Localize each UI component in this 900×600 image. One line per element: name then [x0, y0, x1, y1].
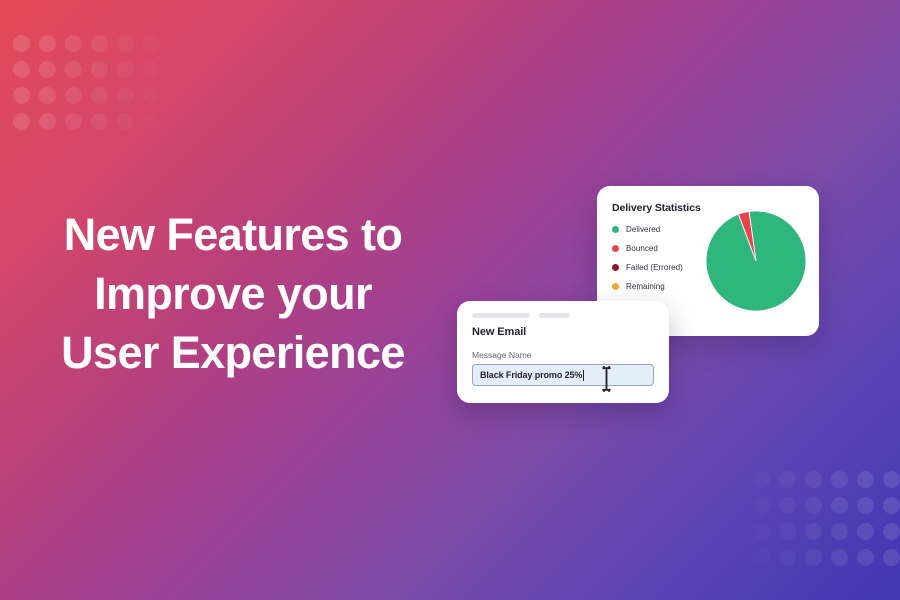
text-caret	[583, 370, 584, 381]
headline-line-3: User Experience	[18, 323, 448, 382]
dot	[60, 56, 86, 82]
dot	[112, 82, 138, 108]
legend-item-remaining: Remaining	[612, 277, 683, 295]
dot	[8, 30, 34, 56]
dot	[826, 466, 852, 492]
dot	[112, 30, 138, 56]
dot	[800, 518, 826, 544]
dot	[138, 56, 164, 82]
dot	[826, 518, 852, 544]
dot	[8, 108, 34, 134]
message-name-input[interactable]: Black Friday promo 25%	[472, 364, 654, 386]
pie-chart-svg	[705, 210, 807, 312]
dot	[86, 108, 112, 134]
decorative-dot-grid-top-left	[8, 30, 164, 134]
dot	[86, 30, 112, 56]
promo-banner: New Features to Improve your User Experi…	[0, 0, 900, 600]
legend-label-bounced: Bounced	[626, 244, 658, 253]
dot	[852, 518, 878, 544]
dot	[800, 492, 826, 518]
email-card-title: New Email	[472, 326, 526, 338]
dot	[112, 108, 138, 134]
dot	[60, 108, 86, 134]
dot	[852, 466, 878, 492]
dot	[826, 544, 852, 570]
headline-line-1: New Features to	[18, 205, 448, 264]
legend-item-bounced: Bounced	[612, 239, 683, 257]
dot	[138, 30, 164, 56]
dot	[34, 108, 60, 134]
dot	[774, 518, 800, 544]
placeholder-bar-narrow	[539, 313, 570, 318]
dot	[878, 466, 900, 492]
legend-label-remaining: Remaining	[626, 282, 665, 291]
legend-swatch-delivered	[612, 226, 619, 233]
dot	[138, 82, 164, 108]
dot	[852, 492, 878, 518]
headline-line-2: Improve your	[18, 264, 448, 323]
dot	[60, 30, 86, 56]
legend-label-failed: Failed (Errored)	[626, 263, 683, 272]
dot	[86, 82, 112, 108]
dot	[86, 56, 112, 82]
delivery-pie-chart	[705, 210, 807, 312]
dot	[748, 518, 774, 544]
legend-swatch-bounced	[612, 245, 619, 252]
dot	[878, 518, 900, 544]
dot	[852, 544, 878, 570]
dot	[748, 492, 774, 518]
dot	[774, 544, 800, 570]
card-header-placeholder	[472, 313, 570, 318]
dot	[34, 82, 60, 108]
dot	[748, 466, 774, 492]
dot	[138, 108, 164, 134]
legend-label-delivered: Delivered	[626, 225, 660, 234]
decorative-dot-grid-bottom-right	[748, 466, 900, 570]
dot	[774, 466, 800, 492]
legend-swatch-failed	[612, 264, 619, 271]
dot	[800, 466, 826, 492]
dot	[774, 492, 800, 518]
dot	[34, 30, 60, 56]
pie-chart-legend: Delivered Bounced Failed (Errored) Remai…	[612, 220, 683, 296]
dot	[34, 56, 60, 82]
message-name-label: Message Name	[472, 350, 532, 360]
legend-swatch-remaining	[612, 283, 619, 290]
dot	[878, 492, 900, 518]
dot	[878, 544, 900, 570]
dot	[60, 82, 86, 108]
dot	[8, 82, 34, 108]
dot	[748, 544, 774, 570]
stats-card-title: Delivery Statistics	[612, 202, 701, 214]
message-name-value: Black Friday promo 25%	[480, 370, 582, 380]
dot	[826, 492, 852, 518]
legend-item-delivered: Delivered	[612, 220, 683, 238]
dot	[112, 56, 138, 82]
placeholder-bar-wide	[472, 313, 530, 318]
new-email-card: New Email Message Name Black Friday prom…	[457, 301, 669, 403]
headline: New Features to Improve your User Experi…	[18, 205, 448, 382]
legend-item-failed: Failed (Errored)	[612, 258, 683, 276]
text-ibeam-cursor-icon	[601, 366, 612, 392]
dot	[800, 544, 826, 570]
dot	[8, 56, 34, 82]
